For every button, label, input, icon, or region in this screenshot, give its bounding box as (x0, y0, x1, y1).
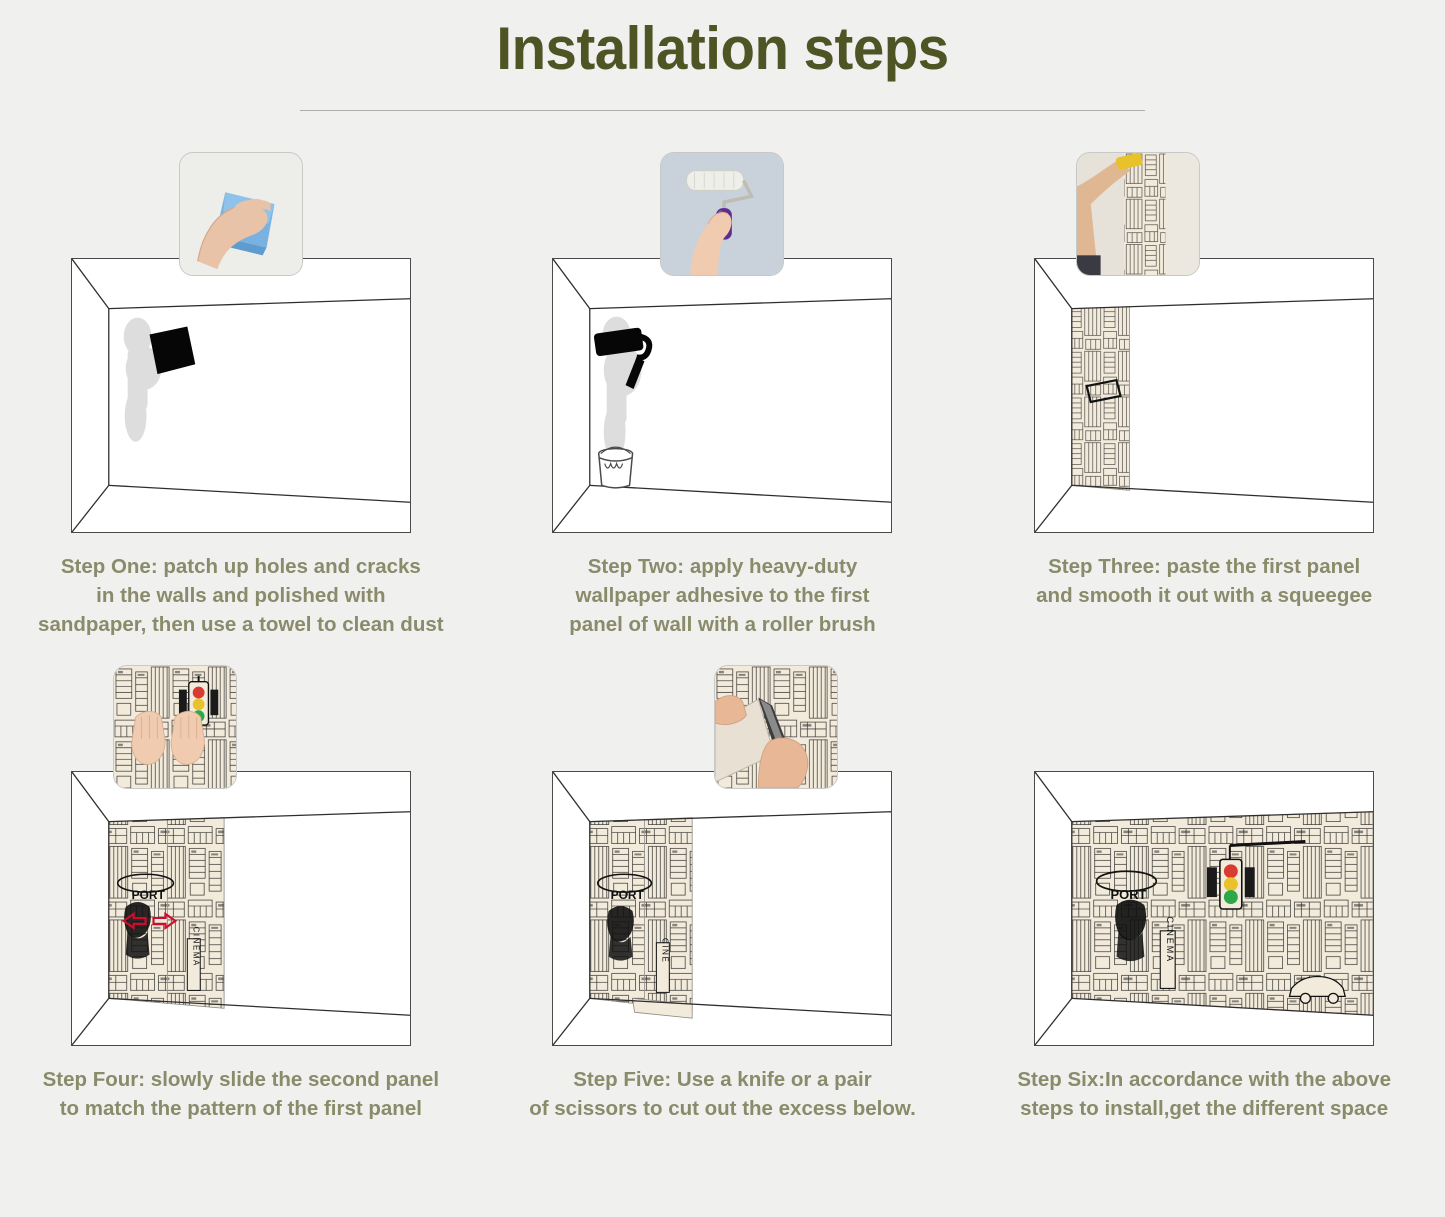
room-diagram-three (1034, 258, 1374, 533)
step-two-illustration (482, 148, 964, 548)
caption-step-six: Step Six:In accordance with the above st… (963, 1065, 1445, 1123)
woman-face-billboard (1115, 900, 1146, 962)
caption-step-one: Step One: patch up holes and cracks in t… (0, 552, 482, 639)
step-card-three: Step Three: paste the first panel and sm… (963, 148, 1445, 639)
svg-text:CINEMA: CINEMA (1165, 917, 1175, 964)
step-card-two: Step Two: apply heavy-duty wallpaper adh… (482, 148, 964, 639)
step-card-one: Step One: patch up holes and cracks in t… (0, 148, 482, 639)
svg-text:CINE: CINE (661, 938, 670, 963)
cinema-sign: CINE (657, 938, 670, 992)
caption-step-two: Step Two: apply heavy-duty wallpaper adh… (482, 552, 964, 639)
title-divider (300, 110, 1145, 111)
room-diagram-one (71, 258, 411, 533)
inset-photo-three (1076, 152, 1200, 276)
page-title: Installation steps (43, 0, 1401, 82)
mural-panels-two: PORT CINEMA (109, 818, 224, 1009)
paint-bucket-icon (599, 447, 633, 488)
step-four-illustration: PORT CINEMA (0, 661, 482, 1061)
woman-face-billboard (124, 902, 151, 959)
mural-panel-1 (1072, 307, 1130, 491)
inset-photo-two (660, 152, 784, 276)
caption-step-five: Step Five: Use a knife or a pair of scis… (482, 1065, 964, 1123)
room-diagram-six: PORT CINEMA (1034, 771, 1374, 1046)
caption-step-three: Step Three: paste the first panel and sm… (963, 552, 1445, 610)
step-card-six: PORT CINEMA (963, 661, 1445, 1123)
steps-grid: Step One: patch up holes and cracks in t… (0, 148, 1445, 1124)
svg-text:CINEMA: CINEMA (191, 927, 200, 967)
woman-face-billboard (608, 906, 635, 961)
mural-complete: PORT CINEMA (1072, 812, 1373, 1016)
inset-photo-five (714, 665, 838, 789)
room-diagram-five: PORT CINE (552, 771, 892, 1046)
caption-step-four: Step Four: slowly slide the second panel… (0, 1065, 482, 1123)
room-diagram-four: PORT CINEMA (71, 771, 411, 1046)
step-card-four: PORT CINEMA (0, 661, 482, 1123)
room-diagram-two (552, 258, 892, 533)
step-six-illustration: PORT CINEMA (963, 661, 1445, 1061)
step-one-illustration (0, 148, 482, 548)
mural-panels-trimmed: PORT CINE (590, 818, 692, 1019)
svg-text:PORT: PORT (131, 888, 165, 902)
step-card-five: PORT CINE (482, 661, 964, 1123)
inset-photo-four (113, 665, 237, 789)
inset-photo-one (179, 152, 303, 276)
step-five-illustration: PORT CINE (482, 661, 964, 1061)
step-three-illustration (963, 148, 1445, 548)
svg-text:PORT: PORT (611, 888, 645, 902)
